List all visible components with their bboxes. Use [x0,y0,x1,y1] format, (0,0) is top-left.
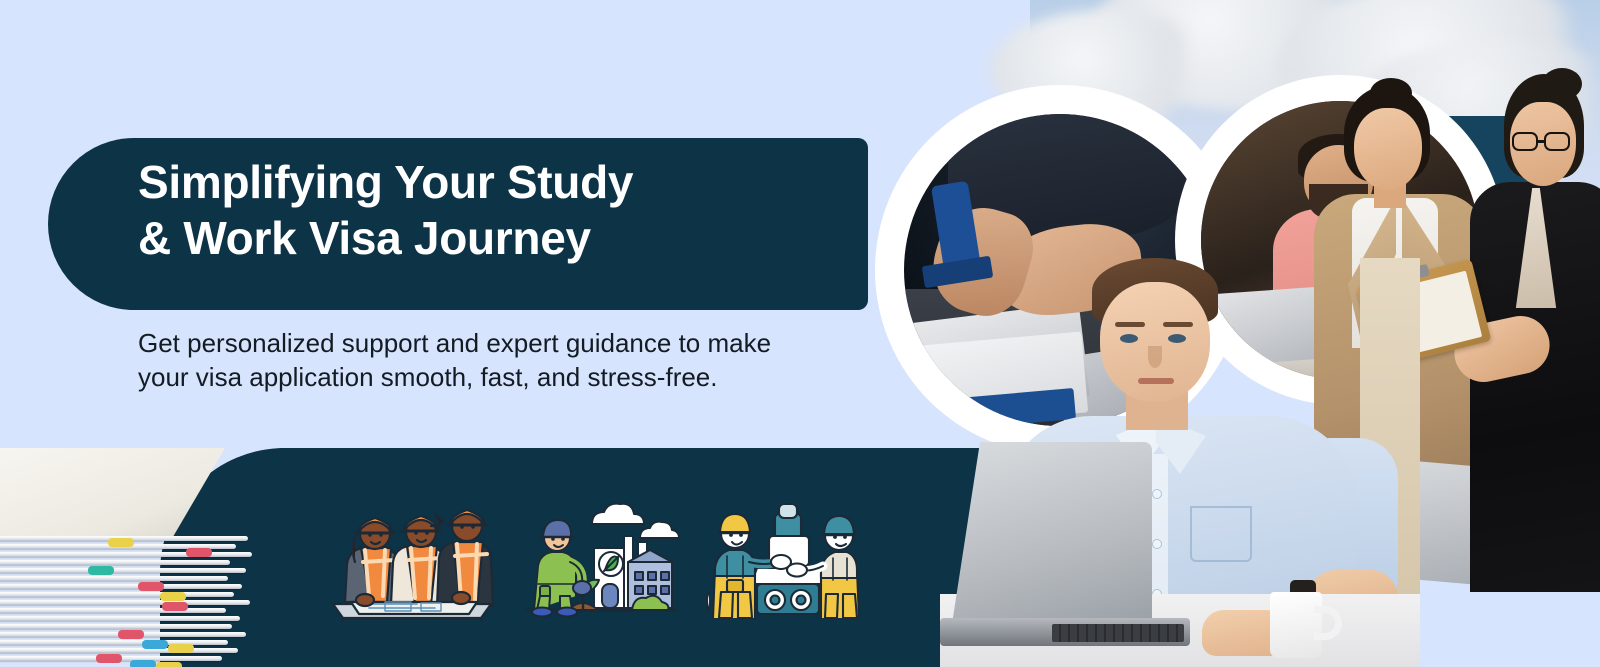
construction-team-blueprint-icon [325,492,500,622]
eyeglasses-icon [1512,132,1574,152]
paper-clip [156,662,182,667]
paper-clip [160,592,186,601]
paper-clip [142,640,168,649]
page-title: Simplifying Your Study & Work Visa Journ… [138,154,838,266]
paper-clip [186,548,212,557]
paper-clip [96,654,122,663]
factory-workers-machine-icon [705,492,865,622]
visa-hero-banner: Simplifying Your Study & Work Visa Journ… [0,0,1600,667]
paper-clip [88,566,114,575]
man-typing-on-laptop-photo [940,258,1420,667]
headline-line-1: Simplifying Your Study [138,156,633,208]
paper-clip [108,538,134,547]
laptop [952,442,1152,624]
green-worker-planting-icon [520,492,680,622]
paper-clip [118,630,144,639]
laptop-keyboard [1052,624,1184,642]
paper-clip [168,644,194,653]
paper-clip [130,660,156,667]
hero-subtext: Get personalized support and expert guid… [138,327,778,395]
paper-clip [138,582,164,591]
paper-clip [162,602,188,611]
service-icon-row [325,492,865,622]
headline-line-2: & Work Visa Journey [138,212,591,264]
paper-stack-photo [0,448,265,667]
